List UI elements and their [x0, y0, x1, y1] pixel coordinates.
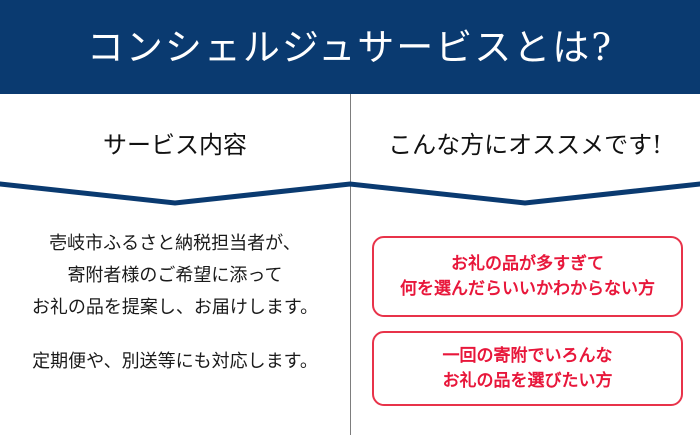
- left-body-line-3: お礼の品を提案し、お届けします。: [0, 292, 350, 324]
- left-body-line-1: 壱岐市ふるさと納税担当者が、: [0, 228, 350, 260]
- callout-1-line-2: 何を選んだらいいかわからない方: [400, 277, 655, 302]
- header-band: コンシェルジュサービスとは?: [0, 0, 700, 94]
- callout-1-line-1: お礼の品が多すぎて: [451, 252, 604, 277]
- recommendation-callout-2: 一回の寄附でいろんな お礼の品を選びたい方: [372, 331, 683, 406]
- recommendation-callout-1: お礼の品が多すぎて 何を選んだらいいかわからない方: [372, 236, 683, 317]
- left-column-body: 壱岐市ふるさと納税担当者が、 寄附者様のご希望に添って お礼の品を提案し、お届け…: [0, 228, 350, 378]
- left-body-line-4: 定期便や、別送等にも対応します。: [0, 346, 350, 378]
- callout-2-line-2: お礼の品を選びたい方: [443, 369, 613, 394]
- concierge-service-infographic: コンシェルジュサービスとは? サービス内容 こんな方にオススメです! 壱岐市ふる…: [0, 0, 700, 435]
- left-column-heading: サービス内容: [0, 128, 350, 162]
- paragraph-spacer: [0, 324, 350, 346]
- callout-2-line-1: 一回の寄附でいろんな: [443, 344, 613, 369]
- right-column-heading: こんな方にオススメです!: [350, 128, 700, 162]
- page-title: コンシェルジュサービスとは?: [87, 29, 613, 66]
- left-body-line-2: 寄附者様のご希望に添って: [0, 260, 350, 292]
